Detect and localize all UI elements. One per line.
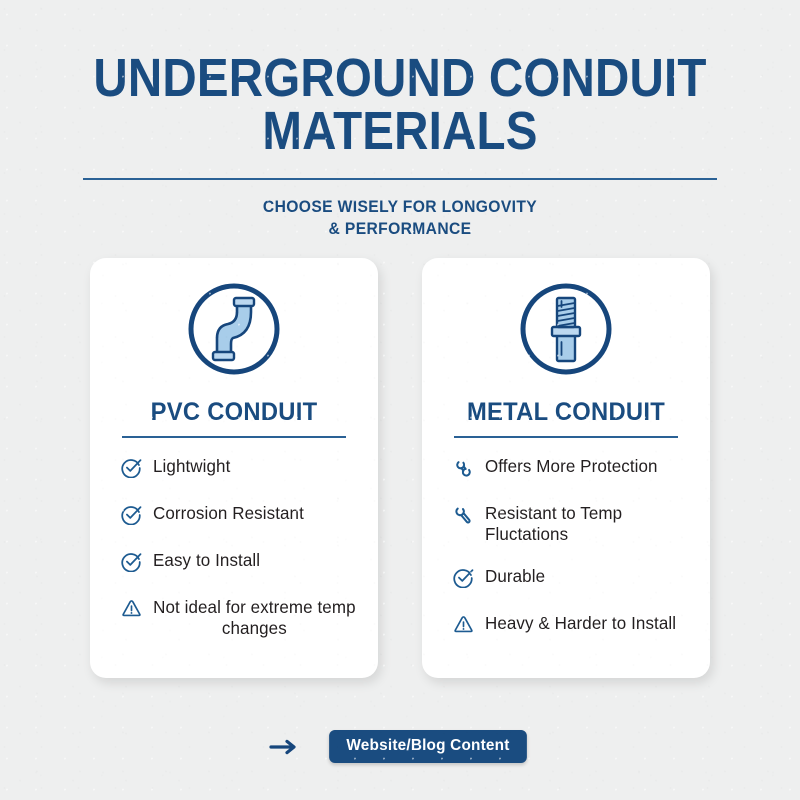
arrow-right-icon: [269, 737, 299, 757]
feature-label: Corrosion Resistant: [153, 503, 304, 524]
list-item: Not ideal for extreme temp changes: [118, 597, 362, 638]
feature-label: Not ideal for extreme temp changes: [153, 597, 356, 638]
list-item: Resistant to Temp Fluctations: [450, 503, 694, 544]
warning-triangle-icon: [118, 597, 144, 622]
card-title-underline: [454, 436, 678, 438]
feature-label: Easy to Install: [153, 550, 260, 571]
card-title-metal: METAL CONDUIT: [429, 398, 703, 427]
check-circle-icon: [118, 503, 144, 528]
feature-label: Lightwight: [153, 456, 230, 477]
list-item: Easy to Install: [118, 550, 362, 575]
feature-list-pvc: Lightwight Corrosion Resistant: [118, 456, 362, 660]
list-item: Offers More Protection: [450, 456, 694, 481]
feature-label: Resistant to Temp Fluctations: [485, 503, 688, 544]
list-item: Lightwight: [118, 456, 362, 481]
card-pvc-conduit[interactable]: PVC CONDUIT Lightwight: [90, 258, 378, 678]
threaded-conduit-icon: [519, 282, 613, 376]
feature-label: Offers More Protection: [485, 456, 658, 477]
header-divider: [83, 178, 717, 180]
feature-list-metal: Offers More Protection Resistant to Temp…: [450, 456, 694, 660]
check-circle-icon: [118, 550, 144, 575]
footer: Website/Blog Content: [0, 730, 800, 763]
list-item: Corrosion Resistant: [118, 503, 362, 528]
title-line-2: MATERIALS: [48, 105, 752, 158]
warning-triangle-icon: [450, 613, 476, 638]
check-circle-icon: [118, 456, 144, 481]
card-title-underline: [122, 436, 346, 438]
page-subtitle: CHOOSE WISELY FOR LONGOVITY & PERFORMANC…: [32, 196, 768, 240]
check-circle-icon: [450, 566, 476, 591]
list-item: Heavy & Harder to Install: [450, 613, 694, 638]
card-title-pvc: PVC CONDUIT: [97, 398, 371, 427]
website-blog-content-button[interactable]: Website/Blog Content: [329, 730, 527, 763]
header: UNDERGROUND CONDUIT MATERIALS: [0, 52, 800, 159]
subtitle-line-1: CHOOSE WISELY FOR LONGOVITY: [263, 197, 537, 216]
double-wrench-icon: [450, 456, 476, 481]
infographic-page: UNDERGROUND CONDUIT MATERIALS CHOOSE WIS…: [0, 0, 800, 800]
wrench-icon: [450, 503, 476, 528]
pipe-elbow-icon: [187, 282, 281, 376]
title-line-1: UNDERGROUND CONDUIT: [93, 48, 706, 108]
subtitle-line-2: & PERFORMANCE: [32, 218, 768, 240]
feature-label: Heavy & Harder to Install: [485, 613, 676, 634]
page-title: UNDERGROUND CONDUIT MATERIALS: [48, 52, 752, 159]
list-item: Durable: [450, 566, 694, 591]
conduit-cards: PVC CONDUIT Lightwight: [0, 258, 800, 680]
card-metal-conduit[interactable]: METAL CONDUIT Offer: [422, 258, 710, 678]
feature-label: Durable: [485, 566, 545, 587]
